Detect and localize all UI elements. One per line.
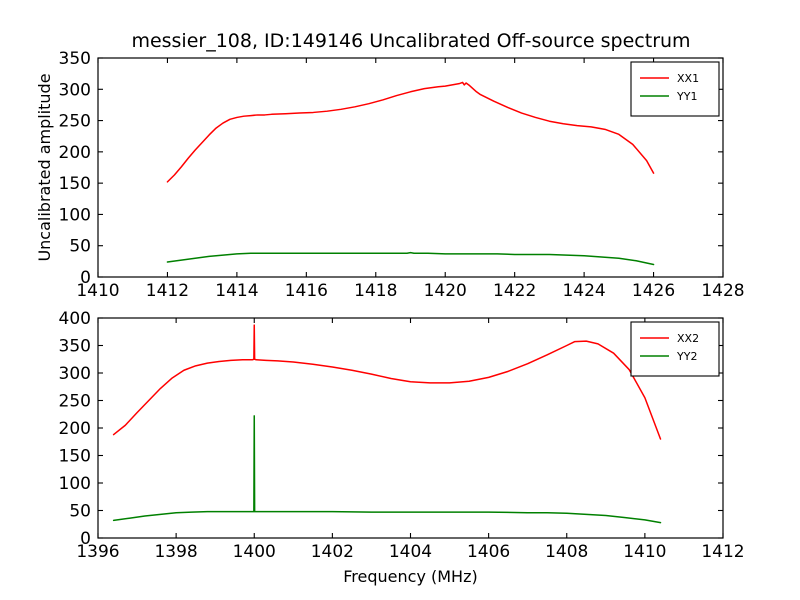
x-tick-label-top-3: 1416 bbox=[285, 281, 328, 301]
y-axis-label-top: Uncalibrated amplitude bbox=[35, 73, 54, 261]
legend-box-top bbox=[631, 62, 719, 116]
x-tick-label-bottom-4: 1404 bbox=[389, 542, 432, 562]
x-tick-label-top-7: 1424 bbox=[562, 281, 605, 301]
y-tick-label-bottom-2: 100 bbox=[59, 474, 91, 494]
y-tick-label-top-2: 100 bbox=[59, 205, 91, 225]
y-tick-label-bottom-8: 400 bbox=[59, 309, 91, 329]
page-title: messier_108, ID:149146 Uncalibrated Off-… bbox=[131, 30, 690, 52]
legend-box-bottom bbox=[631, 322, 719, 376]
y-tick-label-top-0: 0 bbox=[80, 268, 91, 288]
y-tick-label-bottom-6: 300 bbox=[59, 364, 91, 384]
y-tick-label-bottom-4: 200 bbox=[59, 419, 91, 439]
x-tick-label-bottom-2: 1400 bbox=[233, 542, 276, 562]
y-tick-label-top-4: 200 bbox=[59, 143, 91, 163]
x-tick-label-bottom-1: 1398 bbox=[154, 542, 197, 562]
spectrum-figure: messier_108, ID:149146 Uncalibrated Off-… bbox=[0, 0, 800, 600]
y-tick-label-bottom-0: 0 bbox=[80, 529, 91, 549]
y-tick-label-bottom-1: 50 bbox=[69, 502, 91, 522]
legend-label-yy2: YY2 bbox=[676, 350, 697, 363]
x-tick-label-top-6: 1422 bbox=[493, 281, 536, 301]
x-tick-label-bottom-8: 1412 bbox=[701, 542, 744, 562]
x-axis-label-bottom: Frequency (MHz) bbox=[343, 567, 477, 586]
x-tick-label-top-4: 1418 bbox=[354, 281, 397, 301]
x-tick-label-bottom-6: 1408 bbox=[545, 542, 588, 562]
y-tick-label-top-7: 350 bbox=[59, 49, 91, 69]
x-tick-label-top-9: 1428 bbox=[701, 281, 744, 301]
legend-label-yy1: YY1 bbox=[676, 90, 697, 103]
x-tick-label-bottom-7: 1410 bbox=[623, 542, 666, 562]
y-tick-label-top-6: 300 bbox=[59, 80, 91, 100]
legend-bottom: XX2YY2 bbox=[631, 322, 719, 376]
x-tick-label-top-5: 1420 bbox=[424, 281, 467, 301]
legend-label-xx1: XX1 bbox=[677, 72, 699, 85]
y-tick-label-top-3: 150 bbox=[59, 174, 91, 194]
x-tick-label-top-2: 1414 bbox=[215, 281, 258, 301]
x-tick-label-top-1: 1412 bbox=[146, 281, 189, 301]
legend-label-xx2: XX2 bbox=[677, 332, 699, 345]
x-tick-label-top-8: 1426 bbox=[632, 281, 675, 301]
y-tick-label-top-1: 50 bbox=[69, 237, 91, 257]
y-tick-label-top-5: 250 bbox=[59, 112, 91, 132]
figure-canvas: messier_108, ID:149146 Uncalibrated Off-… bbox=[0, 0, 800, 600]
y-tick-label-bottom-3: 150 bbox=[59, 447, 91, 467]
y-tick-label-bottom-5: 250 bbox=[59, 392, 91, 412]
x-tick-label-bottom-3: 1402 bbox=[311, 542, 354, 562]
legend-top: XX1YY1 bbox=[631, 62, 719, 116]
x-tick-label-bottom-5: 1406 bbox=[467, 542, 510, 562]
y-tick-label-bottom-7: 350 bbox=[59, 337, 91, 357]
